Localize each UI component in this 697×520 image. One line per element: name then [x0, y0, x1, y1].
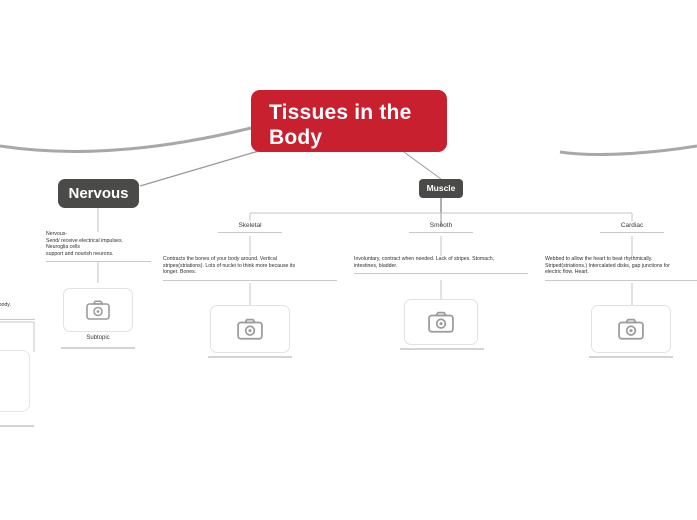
note-smooth-line-1: Involuntary, contract when needed. Lack … — [354, 256, 528, 263]
note-skeletal[interactable]: Contracts the bones of your body around.… — [163, 256, 337, 281]
leaf-node-smooth[interactable]: Smooth — [409, 222, 473, 233]
leaf-label-smooth: Smooth — [409, 222, 473, 232]
image-card-caption-subtopic: Subtopic — [63, 335, 133, 341]
note-clipped-left-line-2: the body. — [0, 302, 35, 309]
note-cardiac-line-1: Webbed to allow the heart to beat rhythm… — [545, 256, 697, 263]
root-title-line-2: Body — [269, 125, 431, 150]
image-card-nervous[interactable] — [63, 288, 133, 332]
note-cardiac[interactable]: Webbed to allow the heart to beat rhythm… — [545, 256, 697, 281]
note-smooth-rule — [354, 273, 528, 274]
leaf-label-skeletal: Skeletal — [218, 222, 282, 232]
root-node-tissues-in-the-body[interactable]: Tissues in the Body — [251, 90, 447, 152]
image-card-cardiac[interactable] — [591, 305, 671, 353]
note-clipped-left-line-1: ort — [0, 295, 35, 302]
camera-icon — [237, 318, 263, 340]
image-card-rule-nervous — [61, 347, 135, 349]
note-skeletal-line-2: stripes(striations). Lots of nuclei to t… — [163, 263, 337, 270]
mindmap-canvas: Tissues in the Body Nervous Muscle Skele… — [0, 0, 697, 520]
note-clipped-left-line-3: ). — [0, 308, 35, 315]
image-card-rule-smooth — [400, 348, 484, 350]
note-smooth[interactable]: Involuntary, contract when needed. Lack … — [354, 256, 528, 274]
image-card-rule-skeletal — [208, 356, 292, 358]
image-card-clipped-left[interactable] — [0, 350, 30, 412]
note-cardiac-line-3: electric flow. Heart. — [545, 269, 697, 276]
branch-node-muscle[interactable]: Muscle — [419, 179, 463, 198]
note-nervous-line-4: support and nourish neurons. — [46, 251, 151, 258]
note-nervous[interactable]: Nervous- Send/ receive electrical impuls… — [46, 231, 151, 262]
note-nervous-rule — [46, 261, 151, 262]
note-skeletal-rule — [163, 280, 337, 281]
branch-label-muscle: Muscle — [427, 183, 456, 193]
note-nervous-line-2: Send/ receive electrical impulses. — [46, 238, 151, 245]
leaf-node-cardiac[interactable]: Cardiac — [600, 222, 664, 233]
note-skeletal-line-3: longer. Bones. — [163, 269, 337, 276]
leaf-node-skeletal[interactable]: Skeletal — [218, 222, 282, 233]
note-clipped-left-rule — [0, 319, 35, 320]
note-nervous-line-1: Nervous- — [46, 231, 151, 238]
note-clipped-left[interactable]: ort the body. ). — [0, 295, 35, 320]
note-cardiac-rule — [545, 280, 697, 281]
image-card-rule-cardiac — [589, 356, 673, 358]
note-cardiac-line-2: Striped(striations.) Intercalated disks,… — [545, 263, 697, 270]
branch-node-nervous[interactable]: Nervous — [58, 179, 139, 208]
image-card-rule-clipped-left — [0, 425, 34, 427]
branch-label-nervous: Nervous — [68, 185, 128, 202]
camera-icon — [86, 300, 110, 320]
image-card-skeletal[interactable] — [210, 305, 290, 353]
leaf-label-cardiac: Cardiac — [600, 222, 664, 232]
image-card-smooth[interactable] — [404, 299, 478, 345]
note-nervous-line-3: Neuroglia cells — [46, 244, 151, 251]
camera-icon — [618, 318, 644, 340]
camera-icon — [428, 311, 454, 333]
leaf-rule-cardiac — [600, 232, 664, 233]
root-title-line-1: Tissues in the — [269, 100, 431, 125]
note-smooth-line-2: intestines, bladder. — [354, 263, 528, 270]
leaf-rule-smooth — [409, 232, 473, 233]
note-skeletal-line-1: Contracts the bones of your body around.… — [163, 256, 337, 263]
leaf-rule-skeletal — [218, 232, 282, 233]
